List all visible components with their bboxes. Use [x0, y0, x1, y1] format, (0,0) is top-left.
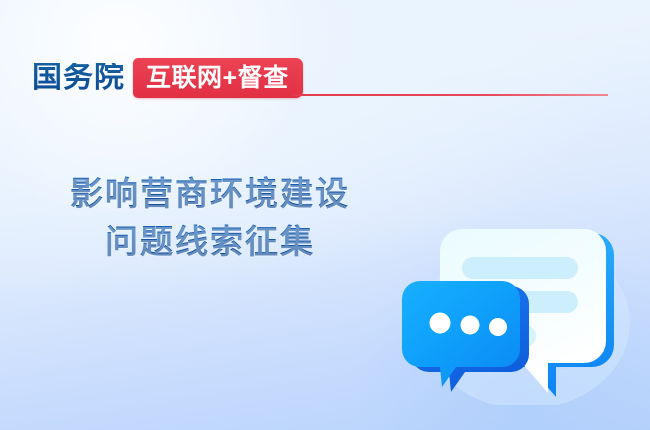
title-line-1: 影响营商环境建设 — [0, 170, 420, 218]
speech-bubbles-illustration — [398, 205, 630, 405]
banner-root: 国务院 互联网+督查 影响营商环境建设 问题线索征集 — [0, 0, 650, 430]
title-line-2: 问题线索征集 — [0, 218, 420, 266]
gov-name-label: 国务院 — [32, 63, 133, 93]
header-divider-rule — [292, 94, 608, 96]
badge-label: 互联网+督查 — [146, 66, 289, 91]
internet-supervision-badge: 互联网+督查 — [133, 58, 303, 98]
page-title: 影响营商环境建设 问题线索征集 — [0, 170, 420, 266]
header: 国务院 互联网+督查 — [32, 56, 303, 100]
